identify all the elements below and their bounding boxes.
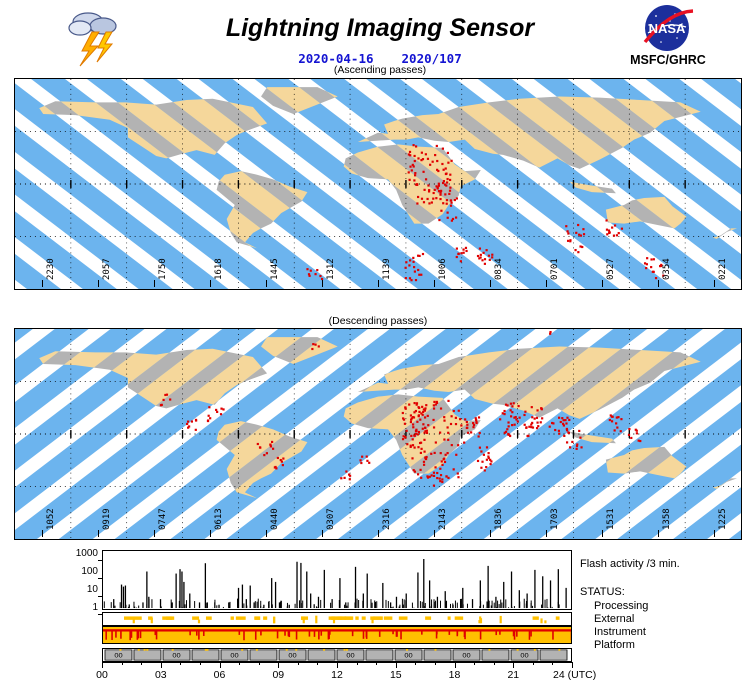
platform-block-label: 00 [230,653,238,659]
status-band-instrument-external [102,626,572,644]
external-status-line [103,629,571,631]
ascending-bottom-tick [322,280,323,287]
x-minor-tick [141,662,142,665]
page-title: Lightning Imaging Sensor [195,14,565,43]
descending-bottom-label: 2316 [382,508,392,530]
y-tick-label: 100 [48,566,98,577]
x-minor-tick [122,662,123,665]
platform-block-label: 00 [172,653,180,659]
page-header: Lightning Imaging Sensor 2020-04-162020/… [0,0,756,76]
descending-bottom-label: 1531 [606,508,616,530]
ascending-bottom-label: 1139 [382,258,392,280]
descending-bottom-label: 1225 [718,508,728,530]
x-minor-tick [317,662,318,665]
y-tick-mark [98,596,102,597]
ascending-bottom-label: 0834 [494,258,504,280]
x-minor-tick [435,662,436,665]
agency-caption: MSFC/GHRC [608,53,728,67]
thunderstorm-icon [62,6,128,68]
flash-activity-chart: 1101001000 0000000000000000 000306091215… [14,550,742,680]
descending-bottom-label: 1052 [46,508,56,530]
nasa-wordmark: NASA [649,21,686,36]
chart-legend: Flash activity /3 min. STATUS: Processin… [580,558,756,570]
ascending-bottom-label: 1006 [438,258,448,280]
ascending-bottom-tick [434,280,435,287]
descending-bottom-tick [266,530,267,537]
ascending-bottom-tick-row: 2230205717501618144513121139100608340701… [14,261,742,287]
legend-item-processing: Processing [594,600,648,612]
ascending-bottom-label: 0221 [718,258,728,280]
ascending-bottom-tick [490,280,491,287]
x-tick-label: 18 [449,669,461,681]
y-axis-labels: 1101001000 [44,544,98,616]
descending-bottom-label: 1358 [662,508,672,530]
platform-block-label: 00 [288,653,296,659]
ascending-bottom-tick [546,280,547,287]
legend-item-instrument: Instrument [594,626,646,638]
descending-bottom-label: 2143 [438,508,448,530]
ascending-bottom-tick [98,280,99,287]
descending-bottom-label: 0613 [214,508,224,530]
descending-bottom-label: 0919 [102,508,112,530]
x-tick-mark [102,662,103,668]
descending-bottom-tick [42,530,43,537]
x-tick-label: 12 [331,669,343,681]
ascending-bottom-label: 0701 [550,258,560,280]
x-tick-mark [455,662,456,668]
x-tick-mark [278,662,279,668]
platform-block-label: 00 [404,653,412,659]
ascending-bottom-label: 1750 [158,258,168,280]
x-axis: 000306091215182124 (UTC) [102,662,572,670]
descending-bottom-tick-row: 1052091907470613044003072316214318361703… [14,511,742,537]
platform-block-label: 00 [114,653,122,659]
ascending-map [14,78,742,290]
descending-bottom-tick [546,530,547,537]
descending-bottom-tick [98,530,99,537]
descending-bottom-label: 1703 [550,508,560,530]
descending-bottom-tick [658,530,659,537]
ascending-bottom-tick [154,280,155,287]
ascending-bottom-tick [602,280,603,287]
x-tick-label: 00 [96,669,108,681]
descending-bottom-label: 0440 [270,508,280,530]
ascending-bottom-tick [714,280,715,287]
x-minor-tick [494,662,495,665]
x-minor-tick [533,662,534,665]
descending-caption: (Descending passes) [14,315,742,327]
ascending-bottom-tick [42,280,43,287]
x-tick-label: 09 [272,669,284,681]
x-minor-tick [180,662,181,665]
ascending-bottom-label: 2057 [102,258,112,280]
legend-flash-label: Flash activity /3 min. [580,558,756,570]
x-tick-label: 24 (UTC) [553,669,596,681]
y-tick-label: 10 [48,584,98,595]
y-tick-label: 1 [48,602,98,613]
processing-segments [124,616,560,624]
y-tick-label: 1000 [48,548,98,559]
ascending-bottom-label: 1445 [270,258,280,280]
x-minor-tick [357,662,358,665]
x-minor-tick [298,662,299,665]
descending-map [14,328,742,540]
ascending-bottom-tick [266,280,267,287]
platform-blocks: 0000000000000000 [105,650,567,660]
ascending-caption: (Ascending passes) [195,64,565,76]
legend-item-external: External [594,613,634,625]
y-tick-mark [98,560,102,561]
descending-bottom-tick [602,530,603,537]
x-tick-mark [337,662,338,668]
x-minor-tick [239,662,240,665]
flash-spike-series [104,559,566,608]
ascending-bottom-label: 2230 [46,258,56,280]
ascending-bottom-label: 0354 [662,258,672,280]
x-minor-tick [259,662,260,665]
x-tick-label: 15 [390,669,402,681]
x-tick-mark [220,662,221,668]
legend-item-platform: Platform [594,639,635,651]
descending-bottom-tick [210,530,211,537]
x-minor-tick [200,662,201,665]
status-band-platform: 0000000000000000 [102,648,572,662]
ascending-bottom-tick [378,280,379,287]
x-tick-label: 06 [214,669,226,681]
ascending-bottom-tick [210,280,211,287]
descending-bottom-label: 1836 [494,508,504,530]
x-tick-mark [572,662,573,668]
descending-bottom-tick [154,530,155,537]
descending-bottom-tick [434,530,435,537]
y-tick-mark [98,614,102,615]
ascending-bottom-label: 0527 [606,258,616,280]
x-tick-mark [513,662,514,668]
y-tick-mark [98,578,102,579]
ascending-bottom-label: 1312 [326,258,336,280]
x-tick-mark [396,662,397,668]
platform-block-label: 00 [346,653,354,659]
descending-bottom-tick [714,530,715,537]
platform-block-label: 00 [520,653,528,659]
x-tick-label: 03 [155,669,167,681]
ascending-bottom-tick [658,280,659,287]
x-minor-tick [552,662,553,665]
x-tick-label: 21 [507,669,519,681]
descending-bottom-tick [490,530,491,537]
descending-bottom-tick [378,530,379,537]
legend-status-title: STATUS: [580,586,625,598]
x-minor-tick [415,662,416,665]
descending-bottom-label: 0747 [158,508,168,530]
descending-bottom-label: 0307 [326,508,336,530]
x-minor-tick [474,662,475,665]
x-minor-tick [376,662,377,665]
descending-bottom-tick [322,530,323,537]
nasa-meatball-icon: NASA [630,4,704,52]
platform-block-label: 00 [462,653,470,659]
status-band-processing [102,612,572,626]
x-tick-mark [161,662,162,668]
flash-activity-plot [102,550,572,610]
ascending-bottom-label: 1618 [214,258,224,280]
